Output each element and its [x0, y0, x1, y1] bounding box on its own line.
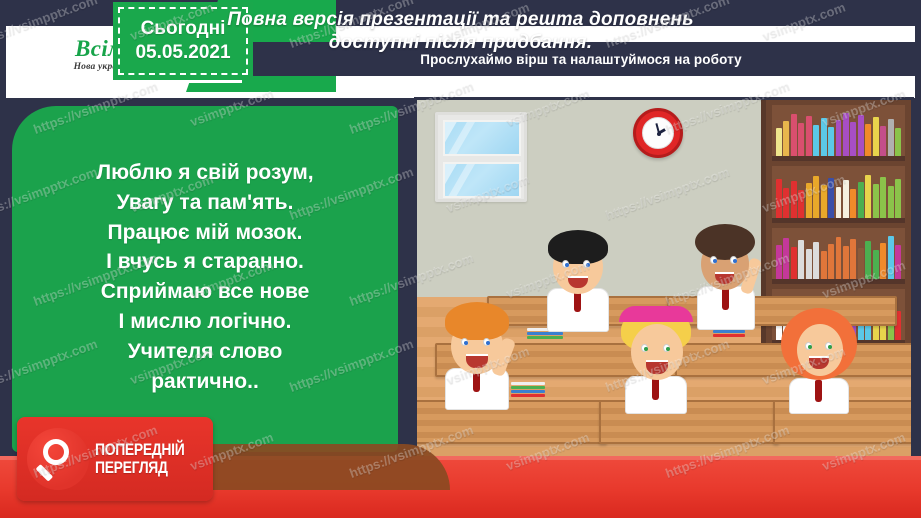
- window-pane-bottom: [443, 162, 521, 198]
- book: [888, 119, 894, 156]
- pupil-eye-left: [710, 256, 717, 264]
- book: [798, 190, 804, 218]
- book: [836, 237, 842, 279]
- book: [895, 179, 901, 218]
- pupil-hair: [445, 302, 509, 340]
- book: [865, 175, 871, 218]
- page-title: Прослухаймо вірш та налаштуймося на робо…: [420, 52, 741, 67]
- book: [843, 180, 849, 218]
- book: [873, 117, 879, 156]
- book: [798, 123, 804, 156]
- book: [843, 246, 849, 279]
- poem-line-3: Працює мій мозок.: [96, 218, 313, 248]
- pupil-mouth: [646, 360, 668, 374]
- clock-face: [642, 117, 674, 149]
- book: [836, 120, 842, 156]
- clock-center-dot: [657, 132, 661, 136]
- pupil-blonde-girl: [613, 306, 705, 410]
- book: [895, 245, 901, 279]
- book: [880, 243, 886, 279]
- magnifier-handle: [36, 464, 54, 482]
- book: [821, 185, 827, 218]
- pupil-eye-left: [805, 342, 812, 350]
- book: [776, 128, 782, 156]
- book: [865, 241, 871, 279]
- slide-header-bar: Прослухаймо вірш та налаштуймося на робо…: [250, 42, 912, 76]
- poem-panel: Люблю я свій розум,Увагу та пам'ять.Прац…: [12, 106, 398, 452]
- book: [828, 127, 834, 156]
- book: [850, 239, 856, 279]
- bookshelf-row-3: [772, 228, 905, 284]
- book: [888, 186, 894, 218]
- book: [813, 176, 819, 218]
- magnifier-icon: [27, 428, 89, 490]
- today-label: Сьогодні: [141, 17, 226, 41]
- poem-text: Люблю я свій розум,Увагу та пам'ять.Прац…: [88, 158, 321, 397]
- pupil-eye-right: [825, 342, 832, 350]
- bookshelf-row-2: [772, 166, 905, 222]
- book: [783, 121, 789, 156]
- pupil-eye-left: [461, 338, 468, 346]
- poem-line-4: І вчусь я старанно.: [96, 247, 313, 277]
- book: [843, 113, 849, 156]
- preview-badge-line1: ПОПЕРЕДНІЙ: [95, 441, 184, 459]
- preview-badge[interactable]: ПОПЕРЕДНІЙ ПЕРЕГЛЯД: [17, 417, 213, 501]
- today-value: 05.05.2021: [135, 41, 230, 65]
- pupil-hair: [695, 224, 755, 260]
- pupil-eye-right: [583, 260, 590, 268]
- book: [880, 126, 886, 156]
- presentation-slide: Всім.pptx Нова українська школа Сьогодні…: [0, 0, 921, 518]
- pupil-eye-right: [663, 344, 670, 352]
- book: [858, 115, 864, 156]
- book: [858, 182, 864, 218]
- pupil-hair: [548, 230, 608, 264]
- book: [783, 238, 789, 279]
- pupil-eye-right: [483, 338, 490, 346]
- book: [791, 247, 797, 279]
- book: [888, 236, 894, 279]
- pupil-eye-left: [641, 344, 648, 352]
- magnifier-ring: [43, 439, 69, 465]
- book: [873, 184, 879, 218]
- pupil-tie: [815, 380, 822, 402]
- book: [821, 251, 827, 279]
- book: [791, 181, 797, 218]
- book: [776, 245, 782, 279]
- header-white-fill-right: [242, 26, 915, 42]
- book: [791, 114, 797, 156]
- wall-clock-icon: [633, 108, 683, 158]
- classroom-illustration: [414, 97, 914, 461]
- today-date-badge: Сьогодні 05.05.2021: [113, 2, 253, 80]
- pupil-red-haired-boy: [435, 298, 527, 408]
- poem-line-7: Учителя слово: [96, 337, 313, 367]
- bookshelf-row-1: [772, 105, 905, 161]
- poem-line-8: рактично..: [96, 367, 313, 397]
- book: [776, 179, 782, 218]
- pupil-mouth: [466, 354, 488, 368]
- window-icon: [435, 112, 527, 202]
- pupil-tie: [722, 288, 729, 310]
- book: [895, 128, 901, 156]
- book: [813, 125, 819, 156]
- pupil-eye-right: [730, 256, 737, 264]
- book: [828, 178, 834, 218]
- poem-line-5: Сприймаю все нове: [96, 277, 313, 307]
- pupil-tie: [652, 378, 659, 400]
- book: [798, 240, 804, 279]
- pupil-boy-with-glasses: [535, 226, 621, 330]
- book: [806, 183, 812, 218]
- book: [821, 118, 827, 156]
- book: [813, 242, 819, 279]
- poem-line-2: Увагу та пам'ять.: [96, 188, 313, 218]
- book: [836, 187, 842, 218]
- pupil-ginger-curly-girl: [775, 306, 867, 410]
- preview-badge-text: ПОПЕРЕДНІЙ ПЕРЕГЛЯД: [95, 441, 184, 477]
- book: [873, 250, 879, 279]
- book: [850, 122, 856, 156]
- book: [865, 124, 871, 156]
- book: [880, 177, 886, 218]
- pupil-eye-left: [562, 260, 569, 268]
- book: [858, 248, 864, 279]
- poem-line-1: Люблю я свій розум,: [96, 158, 313, 188]
- book: [806, 116, 812, 156]
- pupil-headband: [619, 306, 693, 322]
- window-pane-top: [443, 120, 521, 156]
- book: [850, 189, 856, 218]
- book: [806, 249, 812, 279]
- poem-line-6: І мислю логічно.: [96, 307, 313, 337]
- book: [828, 244, 834, 279]
- book: [783, 188, 789, 218]
- preview-badge-line2: ПЕРЕГЛЯД: [95, 459, 184, 477]
